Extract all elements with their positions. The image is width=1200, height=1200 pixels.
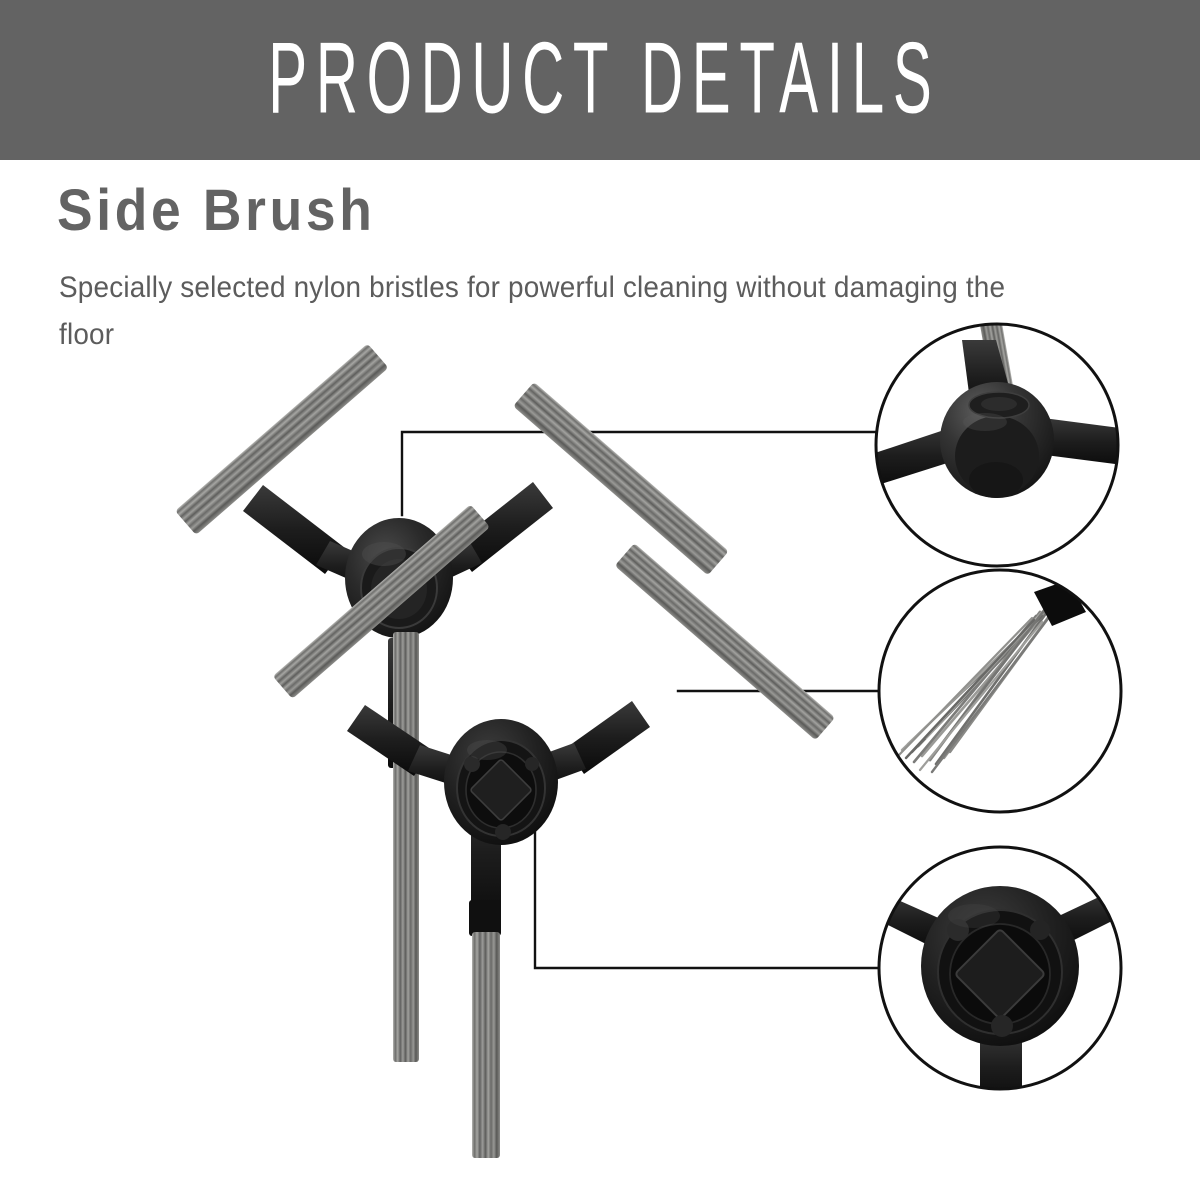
hub-highlight (948, 904, 1000, 928)
bristle-bundle (615, 543, 835, 740)
hub-collar (969, 462, 1023, 498)
bristle-bundle-long (472, 932, 500, 1158)
callout-hub-bottom (878, 847, 1123, 1106)
hub-highlight (963, 413, 1007, 431)
hub-highlight (362, 542, 406, 566)
bristle-bundle-long (393, 632, 419, 1062)
hub-boss-right (1030, 920, 1050, 940)
hub-boss-bottom (991, 1015, 1013, 1037)
product-illustration-canvas (0, 160, 1200, 1200)
header-banner: PRODUCT DETAILS (0, 0, 1200, 160)
bristle-bundle (513, 382, 729, 575)
hub-cap (981, 397, 1017, 411)
brush-arm-lower-right (508, 543, 835, 793)
product-illustration (0, 160, 1200, 1200)
callout-hub-top (848, 268, 1150, 568)
product-detail-page: PRODUCT DETAILS Side Brush Specially sel… (0, 0, 1200, 1200)
callout-bristles (879, 570, 1123, 814)
brush-arm-upper-right (408, 382, 729, 591)
hub-highlight (467, 740, 507, 760)
hub-boss-bottom (495, 824, 511, 840)
brush-hub-lower (444, 719, 558, 845)
leader-line-hub-bottom (535, 795, 879, 968)
page-title: PRODUCT DETAILS (260, 26, 941, 130)
arm-ferrule (469, 900, 501, 936)
hub-boss-right (525, 757, 539, 771)
